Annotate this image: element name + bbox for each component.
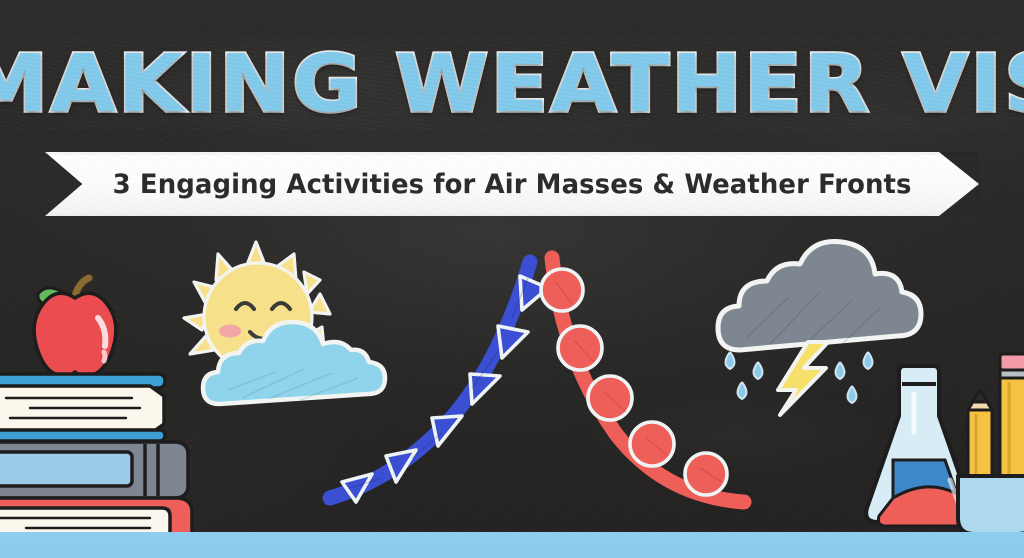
desk-surface bbox=[0, 532, 1024, 558]
subtitle-text: 3 Engaging Activities for Air Masses & W… bbox=[113, 169, 912, 200]
book-stack-icon bbox=[0, 372, 197, 558]
pencil-cup-icon bbox=[960, 352, 1024, 542]
weather-poster: MAKING WEATHER VISIBLE 3 Engaging Activi… bbox=[0, 0, 1024, 558]
apple-icon bbox=[20, 272, 130, 382]
page-title: MAKING WEATHER VISIBLE bbox=[0, 38, 1024, 130]
cold-front-symbol-icon bbox=[322, 248, 552, 508]
subtitle-ribbon: 3 Engaging Activities for Air Masses & W… bbox=[45, 152, 979, 216]
